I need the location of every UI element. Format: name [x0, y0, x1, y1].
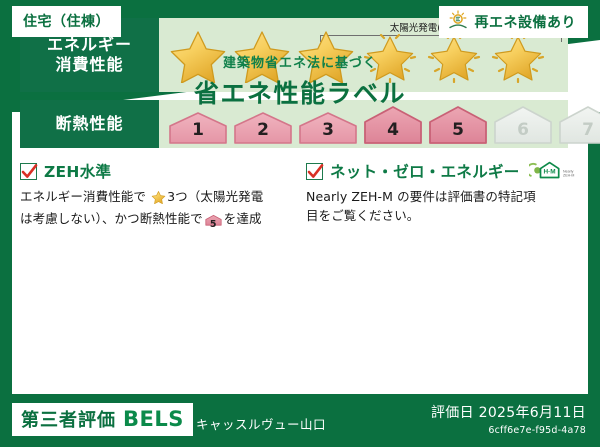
insulation-grade-badge-inactive: 6	[492, 104, 554, 144]
zeh-body-part1: エネルギー消費性能で	[20, 189, 146, 204]
insulation-grade-value: 6	[492, 120, 554, 140]
zeh-body-part3: は考慮しない）、かつ断熱性能で	[20, 211, 203, 226]
label-title: 建築物省エネ法に基づく 省エネ性能ラベル	[0, 52, 600, 110]
third-party-label: 第三者評価	[21, 406, 116, 432]
zeh-body-part4: を達成	[224, 211, 262, 226]
check-title-zeh: ZEH水準	[44, 160, 111, 182]
insulation-grade-scale: 1 2 3	[167, 104, 600, 144]
check-body-zeh: エネルギー消費性能で 3つ（太陽光発電 は考慮しない）、かつ断熱性能で 5 を達…	[20, 187, 290, 233]
building-name: キャッスルヴュー山口	[196, 414, 326, 433]
net-zero-body-line2: 目をご覧ください。	[306, 208, 419, 223]
evaluation-id: 6cff6e7e-f95d-4a78	[431, 425, 586, 436]
sun-solar-icon	[447, 10, 469, 34]
insulation-label-text: 断熱性能	[55, 114, 123, 134]
check-zeh-standard: ZEH水準 エネルギー消費性能で 3つ（太陽光発電 は考慮しない）、かつ断熱性能…	[20, 160, 290, 233]
insulation-grade-badge-achieved: 4	[362, 104, 424, 144]
zeh-body-part2: 3つ（太陽光発電	[167, 189, 263, 204]
checkbox-net-zero-energy[interactable]	[306, 163, 323, 180]
insulation-grade-badge: 3	[297, 110, 359, 144]
svg-text:H·M: H·M	[543, 168, 555, 175]
net-zero-body-line1: Nearly ZEH-M の要件は評価書の特記項	[306, 189, 536, 204]
insulation-grade-value: 5	[427, 120, 489, 140]
check-header: ネット・ゼロ・エネルギー H·M Nearly ZEH-M	[306, 160, 576, 182]
insulation-grade-badge-achieved: 5	[427, 104, 489, 144]
inline-star-icon	[147, 192, 166, 207]
renewable-tag-label: 再エネ設備あり	[475, 12, 577, 32]
inline-house-value: 5	[205, 218, 222, 233]
insulation-grade-value: 1	[167, 120, 229, 140]
title-subtitle: 建築物省エネ法に基づく	[0, 52, 600, 71]
check-title-net-zero: ネット・ゼロ・エネルギー	[330, 160, 520, 182]
label-footer: 第三者評価 BELS キャッスルヴュー山口 評価日 2025年6月11日 6cf…	[0, 394, 600, 447]
check-header: ZEH水準	[20, 160, 290, 182]
title-main: 省エネ性能ラベル	[0, 74, 600, 110]
inline-house-badge-icon: 5	[205, 213, 222, 232]
insulation-grade-value: 4	[362, 120, 424, 140]
nearly-zeh-m-house-logo: H·M Nearly ZEH-M	[529, 160, 577, 182]
insulation-grade-value: 2	[232, 120, 294, 140]
criteria-checks: ZEH水準 エネルギー消費性能で 3つ（太陽光発電 は考慮しない）、かつ断熱性能…	[20, 160, 576, 233]
svg-text:ZEH-M: ZEH-M	[563, 174, 574, 178]
evaluation-date: 評価日 2025年6月11日	[431, 402, 586, 422]
bels-badge: 第三者評価 BELS	[12, 403, 193, 436]
insulation-grade-badge: 2	[232, 110, 294, 144]
insulation-grade-badge-inactive: 7	[557, 104, 600, 144]
insulation-grade-value: 3	[297, 120, 359, 140]
checkbox-zeh-standard[interactable]	[20, 163, 37, 180]
renewable-equipment-tag: 再エネ設備あり	[439, 6, 589, 38]
energy-performance-label: 住宅（住棟） 再エネ設備あり 建築物省エネ法に基づく 省エネ性能ラベル	[0, 0, 600, 447]
check-body-net-zero: Nearly ZEH-M の要件は評価書の特記項 目をご覧ください。	[306, 187, 576, 226]
check-net-zero-energy: ネット・ゼロ・エネルギー H·M Nearly ZEH-M Nearly ZEH…	[306, 160, 576, 233]
insulation-grade-badge: 1	[167, 110, 229, 144]
label-body	[12, 112, 588, 394]
insulation-grade-value: 7	[557, 120, 600, 140]
building-type-tag: 住宅（住棟）	[12, 6, 121, 37]
evaluation-info: 評価日 2025年6月11日 6cff6e7e-f95d-4a78	[431, 402, 586, 436]
bels-label: BELS	[123, 407, 184, 431]
